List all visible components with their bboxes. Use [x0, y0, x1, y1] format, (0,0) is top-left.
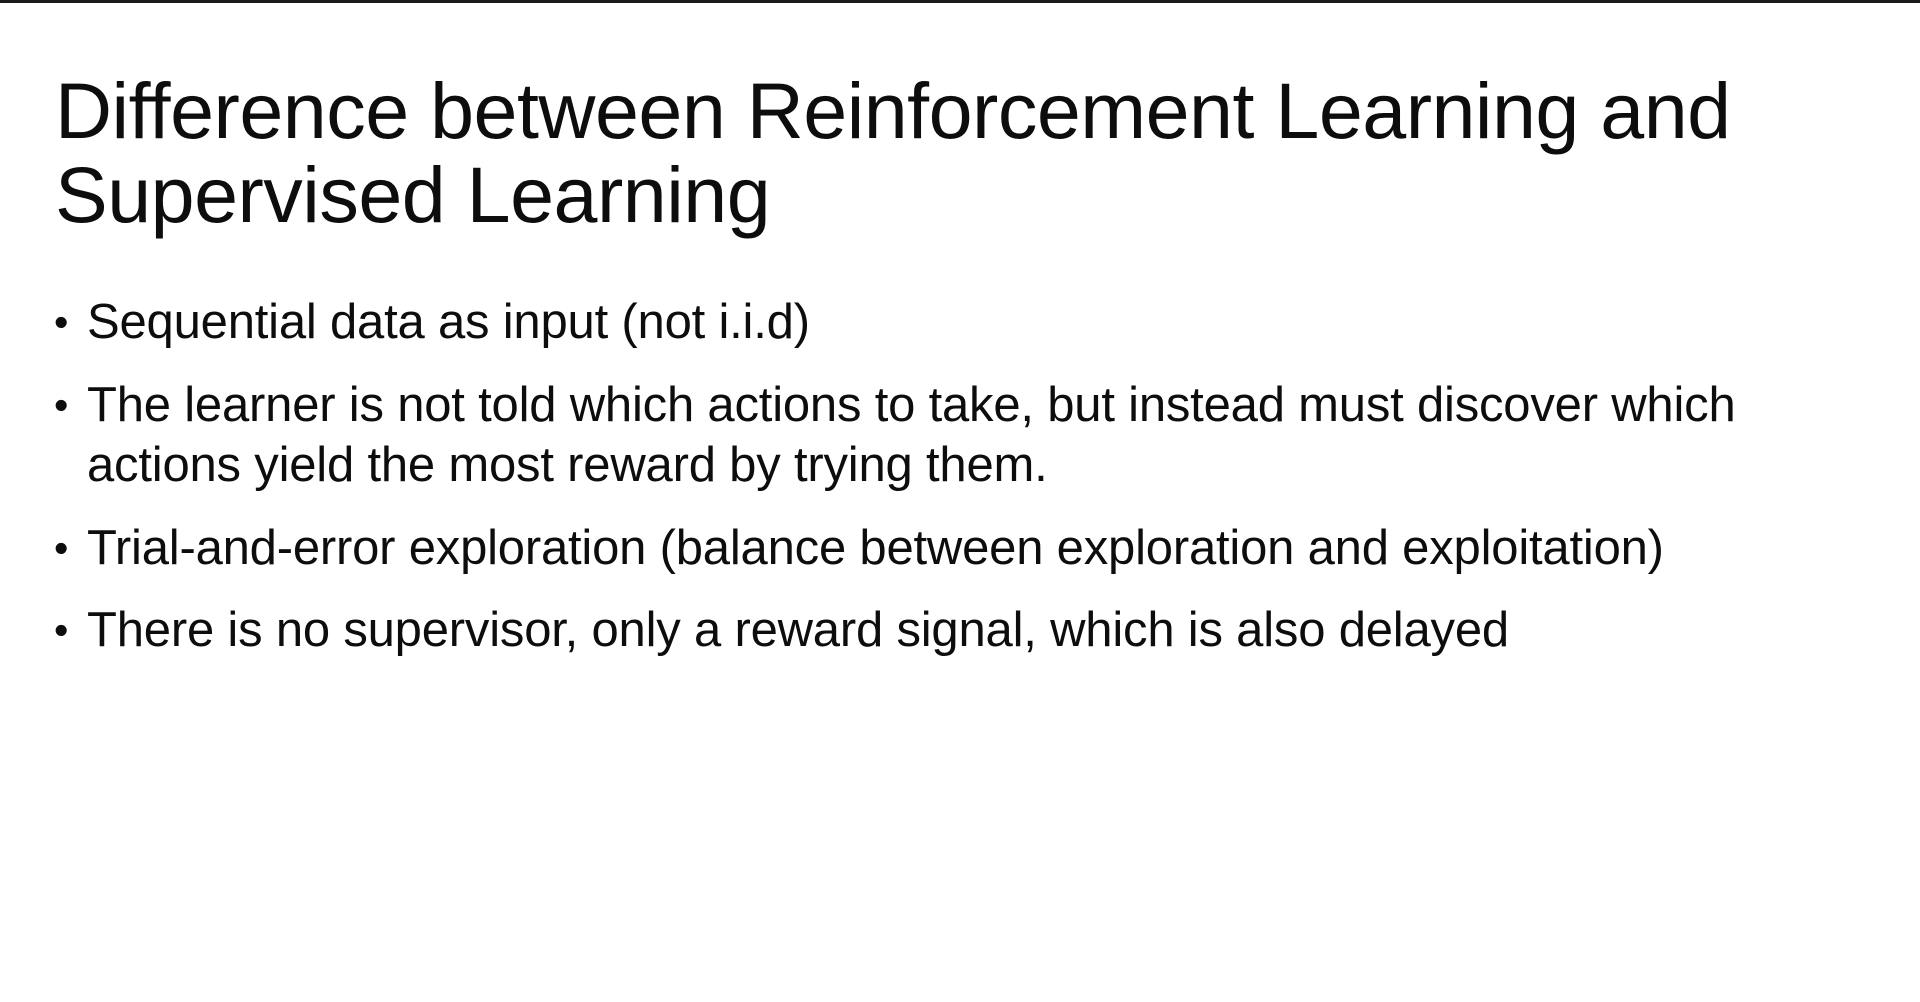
list-item: • Sequential data as input (not i.i.d)	[48, 292, 1898, 353]
list-item: • Trial-and-error exploration (balance b…	[48, 518, 1898, 579]
list-item: • The learner is not told which actions …	[48, 375, 1898, 496]
list-item: • There is no supervisor, only a reward …	[48, 600, 1898, 661]
bullet-point-icon: •	[54, 292, 68, 352]
slide-bullet-list: • Sequential data as input (not i.i.d) •…	[48, 292, 1898, 661]
bullet-point-icon: •	[54, 518, 68, 578]
bullet-point-icon: •	[54, 375, 68, 435]
top-edge-rule	[0, 0, 1920, 3]
page-title: Difference between Reinforcement Learnin…	[55, 69, 1845, 236]
list-item-text: Sequential data as input (not i.i.d)	[87, 292, 1898, 353]
list-item-text: The learner is not told which actions to…	[87, 375, 1898, 496]
list-item-text: There is no supervisor, only a reward si…	[87, 600, 1898, 661]
presentation-slide: Difference between Reinforcement Learnin…	[0, 0, 1920, 1002]
list-item-text: Trial-and-error exploration (balance bet…	[87, 518, 1898, 579]
bullet-point-icon: •	[54, 600, 68, 660]
